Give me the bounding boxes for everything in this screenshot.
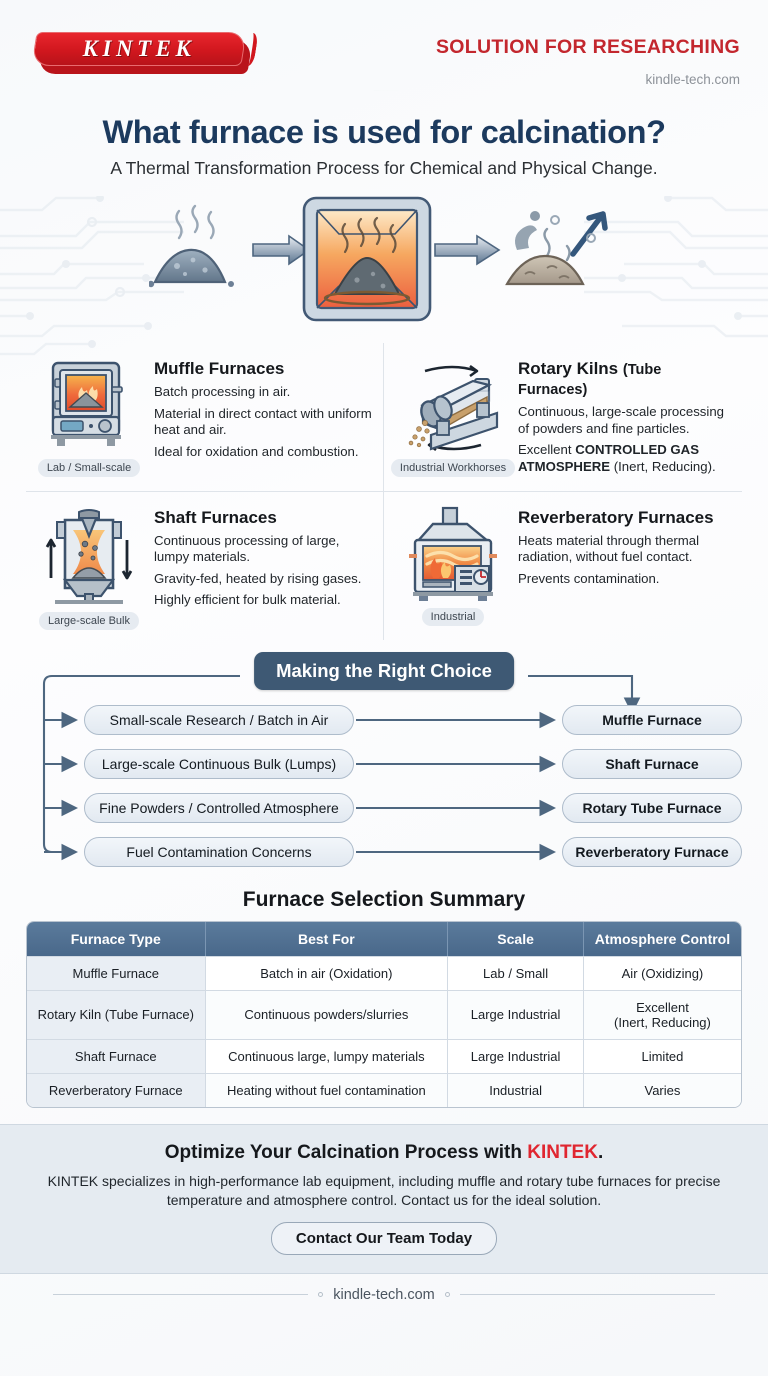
card-line: Batch processing in air. — [154, 384, 373, 401]
calcination-furnace-icon — [304, 198, 430, 320]
header-right: SOLUTION FOR RESEARCHING kindle-tech.com — [436, 36, 740, 87]
decision-flow: Making the Right Choice — [26, 646, 742, 884]
flow-question[interactable]: Fine Powders / Controlled Atmosphere — [84, 793, 354, 823]
footer-dot-right — [445, 1292, 450, 1297]
card-line: Highly efficient for bulk material. — [154, 592, 373, 609]
shaft-furnace-icon — [43, 506, 135, 606]
card-title: Shaft Furnaces — [154, 508, 373, 528]
card-icon-column: Industrial Workhorses — [400, 357, 506, 481]
cell-furnace-type: Reverberatory Furnace — [27, 1073, 206, 1107]
table-row: Rotary Kiln (Tube Furnace) Continuous po… — [27, 990, 741, 1040]
infographic-page: KINTEK SOLUTION FOR RESEARCHING kindle-t… — [0, 0, 768, 1376]
cell-furnace-type: Shaft Furnace — [27, 1039, 206, 1073]
flow-answer[interactable]: Reverberatory Furnace — [562, 837, 742, 867]
page-title: What furnace is used for calcination? — [0, 114, 768, 151]
footer-divider-left — [53, 1294, 308, 1295]
card-line: Continuous processing of large, lumpy ma… — [154, 533, 373, 566]
column-header: Best For — [206, 922, 449, 956]
card-title: Reverberatory Furnaces — [518, 508, 732, 528]
cell-atmosphere: Varies — [584, 1073, 741, 1107]
logo-text: KINTEK — [34, 32, 244, 66]
cta-heading-before: Optimize Your Calcination Process with — [165, 1142, 527, 1163]
card-line: Prevents contamination. — [518, 571, 732, 588]
card-icon-column: Industrial — [400, 506, 506, 630]
column-header: Furnace Type — [27, 922, 206, 956]
card-line: Material in direct contact with uniform … — [154, 406, 373, 439]
footer-divider-right — [460, 1294, 715, 1295]
cta-section: Optimize Your Calcination Process with K… — [0, 1124, 768, 1274]
card-body: Shaft Furnaces Continuous processing of … — [154, 506, 373, 630]
flow-question[interactable]: Small-scale Research / Batch in Air — [84, 705, 354, 735]
table-row: Shaft Furnace Continuous large, lumpy ma… — [27, 1039, 741, 1073]
table-header-row: Furnace Type Best For Scale Atmosphere C… — [27, 922, 741, 956]
page-header: KINTEK SOLUTION FOR RESEARCHING kindle-t… — [0, 0, 768, 108]
cell-scale: Industrial — [448, 1073, 584, 1107]
table-row: Reverberatory Furnace Heating without fu… — [27, 1073, 741, 1107]
flow-question[interactable]: Large-scale Continuous Bulk (Lumps) — [84, 749, 354, 779]
title-block: What furnace is used for calcination? A … — [0, 108, 768, 179]
card-title: Rotary Kilns (Tube Furnaces) — [518, 359, 732, 399]
card-line: Ideal for oxidation and combustion. — [154, 444, 373, 461]
card-tag: Lab / Small-scale — [38, 459, 140, 477]
calcined-product-icon — [507, 211, 605, 284]
card-muffle-furnace: Lab / Small-scale Muffle Furnaces Batch … — [26, 343, 384, 492]
column-header: Atmosphere Control — [584, 922, 741, 956]
cta-paragraph: KINTEK specializes in high-performance l… — [30, 1172, 738, 1210]
footer-dot-left — [318, 1292, 323, 1297]
header-site-url: kindle-tech.com — [436, 72, 740, 87]
card-icon-column: Lab / Small-scale — [36, 357, 142, 481]
cell-best-for: Continuous powders/slurries — [206, 990, 449, 1040]
flow-question[interactable]: Fuel Contamination Concerns — [84, 837, 354, 867]
card-reverberatory-furnace: Industrial Reverberatory Furnaces Heats … — [384, 492, 742, 640]
cell-scale: Large Industrial — [448, 990, 584, 1040]
cell-atmosphere: Excellent (Inert, Reducing) — [584, 990, 741, 1040]
cell-atmosphere: Air (Oxidizing) — [584, 956, 741, 990]
cell-atmosphere: Limited — [584, 1039, 741, 1073]
cell-scale: Large Industrial — [448, 1039, 584, 1073]
card-title-main: Rotary Kilns — [518, 359, 618, 378]
raw-material-pile-icon — [149, 206, 234, 287]
muffle-furnace-icon — [43, 357, 135, 453]
contact-button[interactable]: Contact Our Team Today — [271, 1222, 497, 1255]
furnace-cards-grid: Lab / Small-scale Muffle Furnaces Batch … — [26, 343, 742, 640]
card-body: Rotary Kilns (Tube Furnaces) Continuous,… — [518, 357, 732, 481]
cell-scale: Lab / Small — [448, 956, 584, 990]
right-arrow-icon — [253, 236, 309, 264]
kintek-logo[interactable]: KINTEK — [34, 32, 252, 76]
column-header: Scale — [448, 922, 584, 956]
card-title: Muffle Furnaces — [154, 359, 373, 379]
table-row: Muffle Furnace Batch in air (Oxidation) … — [27, 956, 741, 990]
cta-heading-after: . — [598, 1142, 603, 1163]
card-line-bold-atmosphere: Excellent CONTROLLED GAS ATMOSPHERE (Ine… — [518, 442, 732, 475]
card-tag: Industrial Workhorses — [391, 459, 515, 477]
card-bold-phrase: CONTROLLED GAS ATMOSPHERE — [518, 442, 699, 474]
reverberatory-furnace-icon — [403, 506, 503, 602]
cell-best-for: Batch in air (Oxidation) — [206, 956, 449, 990]
cta-heading: Optimize Your Calcination Process with K… — [30, 1142, 738, 1164]
card-body: Reverberatory Furnaces Heats material th… — [518, 506, 732, 630]
card-tag: Industrial — [422, 608, 485, 626]
cell-best-for: Continuous large, lumpy materials — [206, 1039, 449, 1073]
flow-answer[interactable]: Rotary Tube Furnace — [562, 793, 742, 823]
page-footer: kindle-tech.com — [0, 1274, 768, 1316]
cell-furnace-type: Muffle Furnace — [27, 956, 206, 990]
furnace-selection-table: Furnace Type Best For Scale Atmosphere C… — [26, 921, 742, 1109]
card-line: Gravity-fed, heated by rising gases. — [154, 571, 373, 588]
card-shaft-furnace: Large-scale Bulk Shaft Furnaces Continuo… — [26, 492, 384, 640]
card-line: Heats material through thermal radiation… — [518, 533, 732, 566]
rotary-kiln-icon — [401, 357, 505, 453]
card-rotary-kiln: Industrial Workhorses Rotary Kilns (Tube… — [384, 343, 742, 492]
cell-best-for: Heating without fuel contamination — [206, 1073, 449, 1107]
table-title: Furnace Selection Summary — [26, 888, 742, 912]
card-body: Muffle Furnaces Batch processing in air.… — [154, 357, 373, 481]
header-divider — [36, 90, 736, 91]
card-icon-column: Large-scale Bulk — [36, 506, 142, 630]
header-tagline: SOLUTION FOR RESEARCHING — [436, 36, 740, 59]
flow-answer[interactable]: Shaft Furnace — [562, 749, 742, 779]
cell-furnace-type: Rotary Kiln (Tube Furnace) — [27, 990, 206, 1040]
process-diagram — [0, 191, 768, 331]
footer-site-url: kindle-tech.com — [333, 1287, 435, 1303]
flow-answer[interactable]: Muffle Furnace — [562, 705, 742, 735]
cta-brand: KINTEK — [527, 1142, 598, 1163]
card-line: Continuous, large-scale processing of po… — [518, 404, 732, 437]
flow-header-label: Making the Right Choice — [254, 652, 514, 690]
right-arrow-icon — [435, 236, 499, 264]
page-subtitle: A Thermal Transformation Process for Che… — [0, 158, 768, 179]
card-tag: Large-scale Bulk — [39, 612, 139, 630]
summary-table-section: Furnace Selection Summary Furnace Type B… — [26, 888, 742, 1109]
